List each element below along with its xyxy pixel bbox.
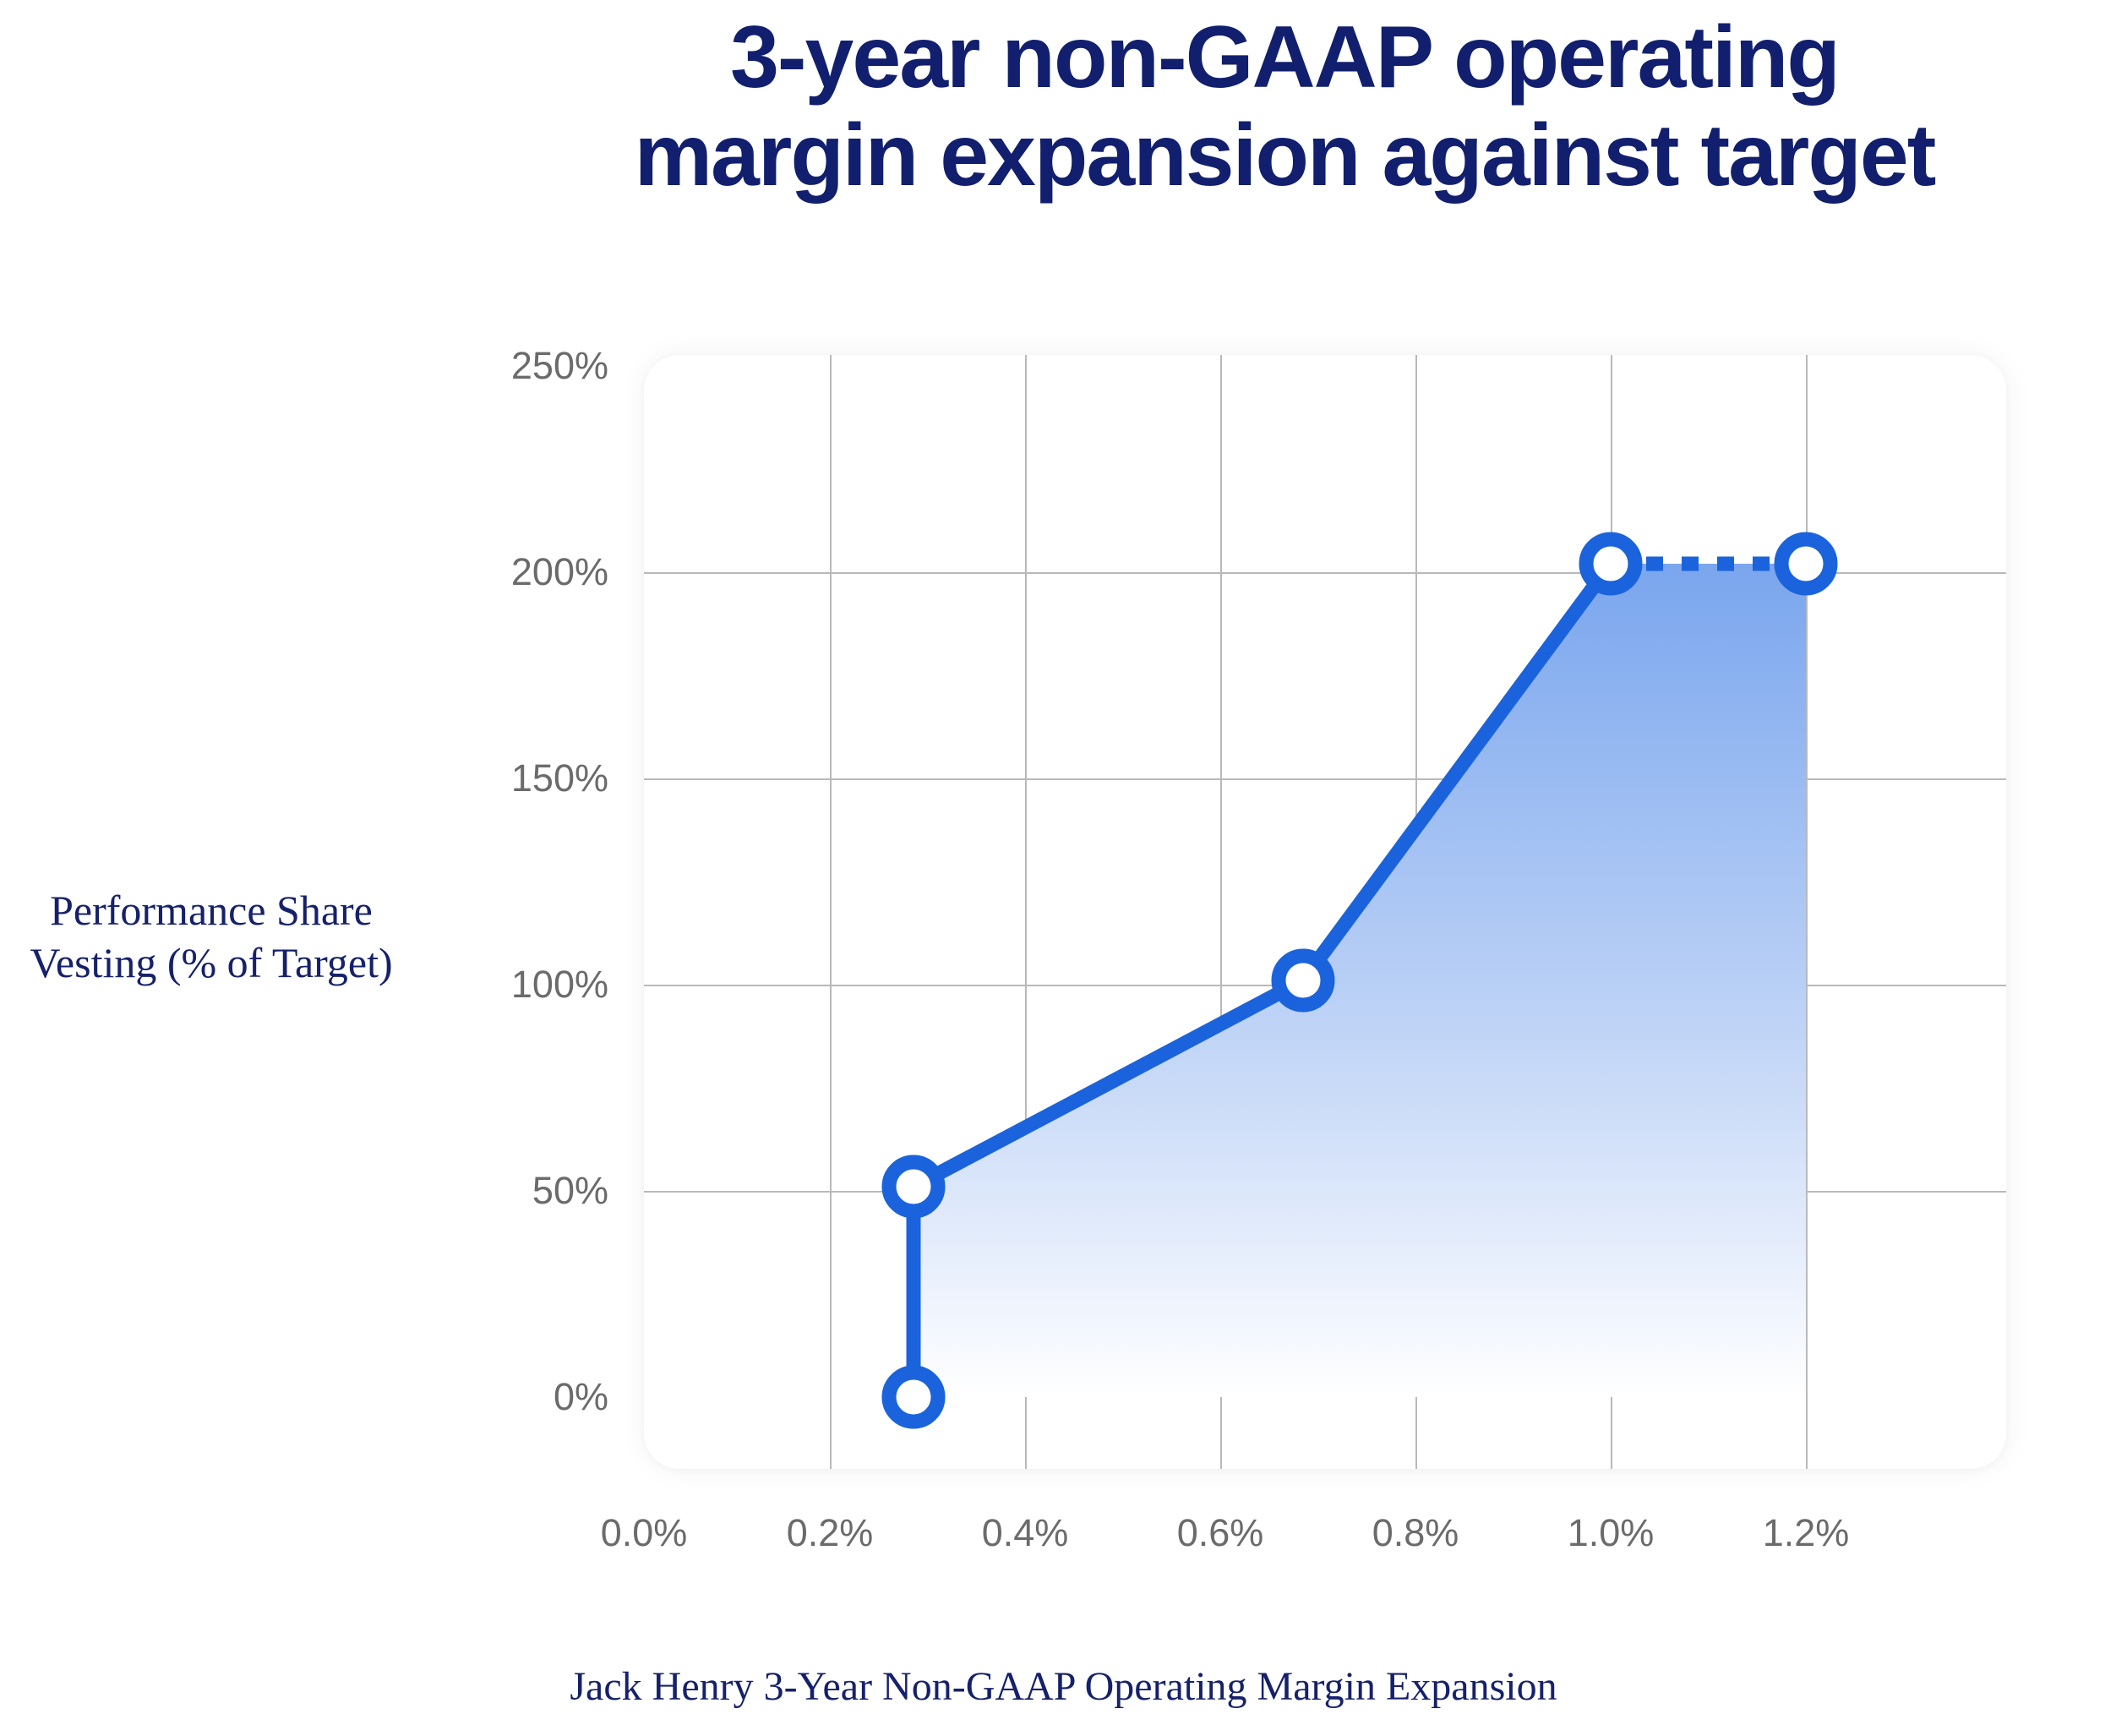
data-point-marker[interactable]	[1781, 539, 1830, 588]
chart-plot-clip	[644, 355, 2006, 1469]
data-point-marker[interactable]	[1279, 956, 1328, 1005]
chart-series-svg	[644, 355, 2006, 1469]
x-axis-tick-0.0: 0.0%	[551, 1511, 737, 1555]
x-axis-tick-0.6: 0.6%	[1127, 1511, 1313, 1555]
y-axis-tick-150: 150%	[473, 756, 608, 800]
x-axis-tick-1.0: 1.0%	[1518, 1511, 1704, 1555]
y-axis-tick-50: 50%	[473, 1169, 608, 1213]
x-axis-title: Jack Henry 3-Year Non-GAAP Operating Mar…	[0, 1663, 2127, 1710]
data-point-marker[interactable]	[889, 1373, 938, 1422]
page-title: 3-year non-GAAP operating margin expansi…	[448, 8, 2121, 205]
data-point-marker[interactable]	[889, 1162, 938, 1211]
y-axis-tick-200: 200%	[473, 550, 608, 594]
data-point-marker[interactable]	[1586, 539, 1635, 588]
x-axis-tick-0.2: 0.2%	[737, 1511, 923, 1555]
chart-plot-area	[644, 355, 2006, 1469]
area-fill	[914, 564, 1806, 1397]
y-axis-tick-100: 100%	[473, 963, 608, 1007]
y-axis-tick-0: 0%	[473, 1375, 608, 1419]
x-axis-tick-1.2: 1.2%	[1713, 1511, 1899, 1555]
y-axis-title: Performance Share Vesting (% of Target)	[8, 884, 414, 989]
x-axis-tick-0.4: 0.4%	[932, 1511, 1118, 1555]
x-axis-tick-0.8: 0.8%	[1323, 1511, 1508, 1555]
y-axis-tick-250: 250%	[473, 344, 608, 388]
